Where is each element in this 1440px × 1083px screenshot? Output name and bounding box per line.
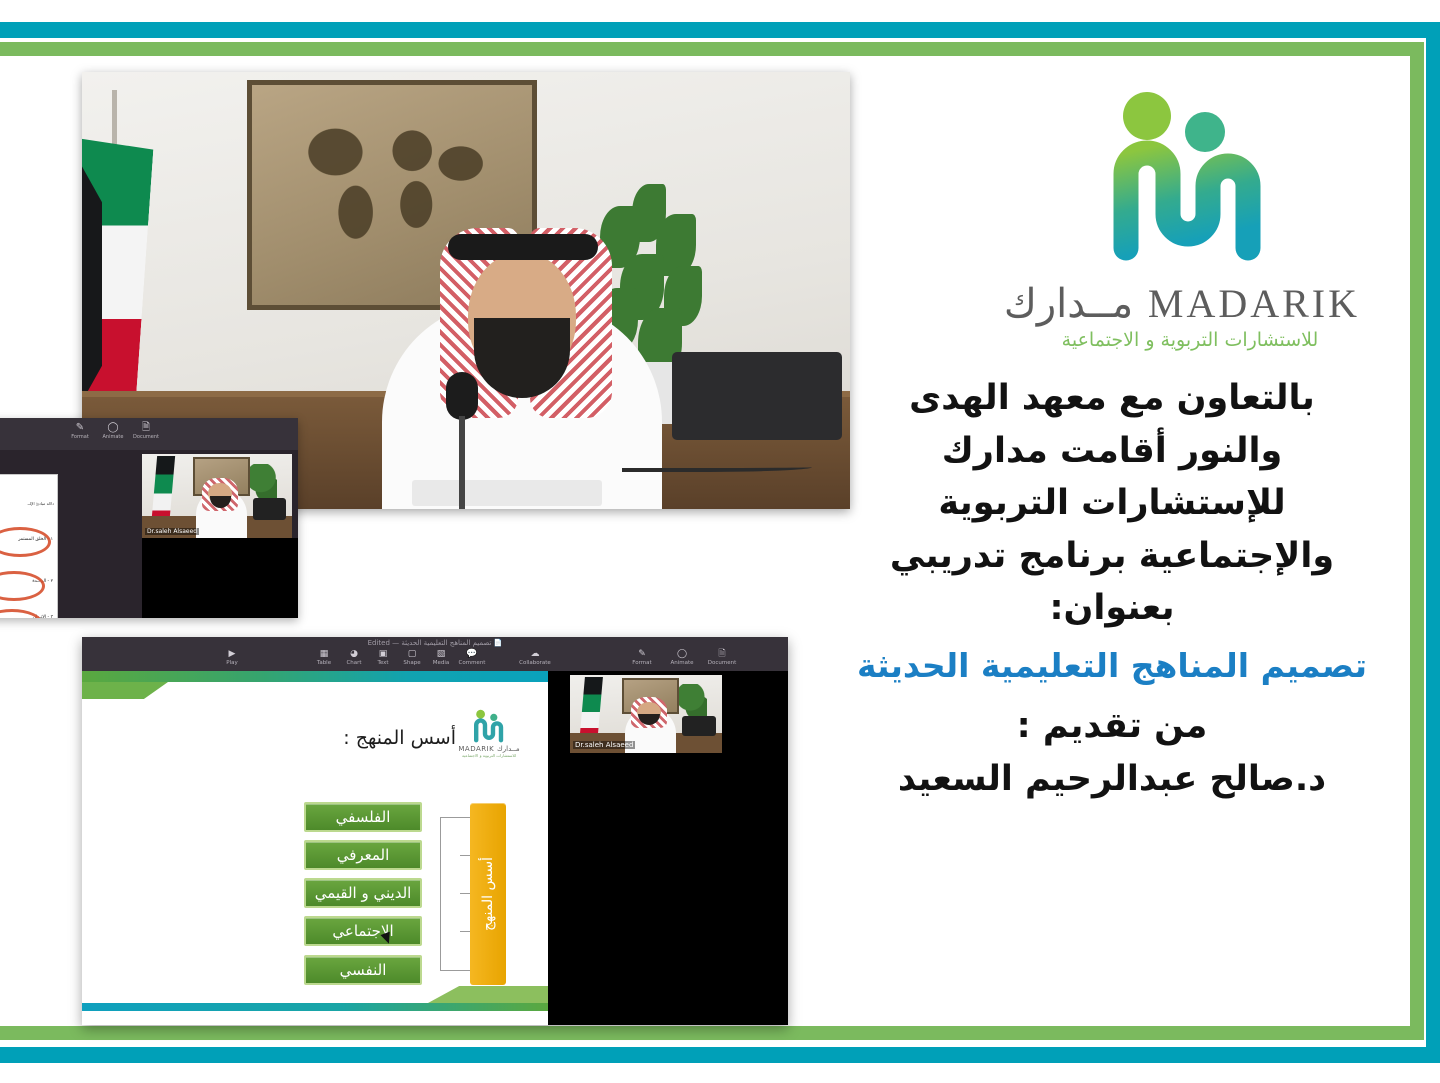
red-annotation-circle [0, 571, 45, 601]
announcement-copy: بالتعاون مع معهد الهدى والنور أقامت مدار… [842, 372, 1382, 805]
office-printer [253, 498, 286, 520]
toolbar-label-collaborate: Collaborate [519, 660, 551, 666]
frame-bar-green-right [1410, 42, 1424, 1040]
toolbar-label-comment: Comment [459, 660, 486, 666]
copy-line-3: للإستشارات التربوية [842, 477, 1382, 530]
copy-line-2: والنور أقامت مدارك [842, 425, 1382, 478]
participant-name-label: Dr.saleh Alsaeed [145, 528, 199, 535]
toolbar-item-document[interactable]: 🗎 Document [128, 422, 164, 440]
copy-line-1: بالتعاون مع معهد الهدى [842, 372, 1382, 425]
speaker-agal [448, 234, 598, 260]
participant-video-tile[interactable]: Dr.saleh Alsaeed [570, 675, 722, 753]
toolbar-label-table: Table [317, 660, 331, 666]
slide-item-box[interactable]: الديني و القيمي [304, 878, 422, 908]
toolbar-label-format: Format [71, 434, 89, 440]
presentation-toolbar[interactable]: 📄 تصميم المناهج التعليمية الحديثة — Edit… [82, 637, 788, 671]
slide-logo-tagline: للاستشارات التربوية و الاجتماعية [450, 753, 528, 758]
document-icon: 🗎 [128, 422, 164, 434]
diagram-connector-stub [460, 817, 470, 818]
slide-logo-name-ar: مــدارك [497, 745, 520, 753]
collaborate-icon: ☁ [515, 649, 555, 660]
brand-wordmark-ar: مــدارك [1004, 281, 1133, 327]
presenter-label: من تقديم : [842, 700, 1382, 753]
comment-icon: 💬 [452, 649, 492, 660]
document-icon: 🗎 [702, 649, 742, 660]
microphone [454, 372, 470, 509]
document-file-icon: 📄 [494, 639, 503, 647]
animate-icon: ◯ [662, 649, 702, 660]
format-icon: ✎ [622, 649, 662, 660]
presentation-window-title: 📄 تصميم المناهج التعليمية الحديثة — Edit… [82, 639, 788, 647]
play-icon: ▶ [212, 649, 252, 660]
slide-madarik-logo: MADARIK مــدارك للاستشارات التربوية و ال… [450, 709, 528, 758]
slide-item-box[interactable]: الاجتماعي [304, 916, 422, 946]
madarik-logo-icon [471, 709, 507, 743]
slide-canvas[interactable]: MADARIK مــدارك للاستشارات التربوية و ال… [82, 671, 548, 1025]
small-window-body: دلالة مبادئ الإلــ ١ - الخلق المستمر ٢ -… [0, 450, 298, 618]
slide-bottom-notch [428, 986, 548, 1003]
frame-bar-teal-top [0, 22, 1440, 38]
slide-item-box[interactable]: الفلسفي [304, 802, 422, 832]
format-icon: ✎ [62, 422, 98, 434]
toolbar-item-collaborate[interactable]: ☁ Collaborate [515, 649, 555, 666]
madarik-logo-icon [1100, 86, 1280, 274]
red-annotation-circle [0, 609, 43, 618]
participant-video-scene [142, 454, 292, 538]
toolbar-item-format[interactable]: ✎ Format [62, 422, 98, 440]
shared-screen-black-area [142, 538, 298, 618]
slide-spine-label-box[interactable]: أسس المنهج [470, 803, 506, 985]
toolbar-label-document: Document [133, 434, 159, 440]
slide-logo-name-en: MADARIK [458, 745, 494, 753]
toolbar-item-format[interactable]: ✎ Format [622, 649, 662, 666]
frame-bar-teal-bottom [0, 1047, 1440, 1063]
secondary-screenshot-window[interactable]: ✎ Format ◯ Animate 🗎 Document دلالة مباد… [0, 418, 298, 618]
toolbar-item-play[interactable]: ▶ Play [212, 649, 252, 666]
slide-title: أسس المنهج : [343, 727, 456, 749]
office-printer [672, 352, 842, 440]
presentation-window-title-text: تصميم المناهج التعليمية الحديثة — Edited [368, 639, 492, 647]
toolbar-item-comment[interactable]: 💬 Comment [452, 649, 492, 666]
kuwait-flag [84, 90, 146, 430]
toolbar-item-animate[interactable]: ◯ Animate [95, 422, 131, 440]
copy-line-5: بعنوان: [842, 582, 1382, 635]
office-printer [682, 716, 715, 736]
slide-logo-name: MADARIK مــدارك [450, 745, 528, 753]
presenter-name: د.صالح عبدالرحيم السعيد [842, 753, 1382, 806]
document-heading: دلالة مبادئ الإلــ [28, 501, 54, 506]
microphone-head [446, 372, 478, 420]
brand-tagline: للاستشارات التربوية و الاجتماعية [1020, 329, 1360, 351]
microphone-stem [459, 416, 465, 509]
frame-bar-green-top [0, 42, 1424, 56]
toolbar-label-media: Media [433, 660, 450, 666]
small-window-toolbar[interactable]: ✎ Format ◯ Animate 🗎 Document [0, 418, 298, 450]
toolbar-item-animate[interactable]: ◯ Animate [662, 649, 702, 666]
toolbar-label-shape: Shape [403, 660, 420, 666]
diagram-connector-stub [460, 931, 470, 932]
toolbar-item-document[interactable]: 🗎 Document [702, 649, 742, 666]
copy-line-4: والإجتماعية برنامج تدريبي [842, 530, 1382, 583]
diagram-connector-stub [460, 893, 470, 894]
diagram-connector-bracket [440, 817, 462, 971]
program-title: تصميم المناهج التعليمية الحديثة [842, 641, 1382, 691]
frame-bar-teal-right [1426, 22, 1440, 1063]
toolbar-label-text: Text [377, 660, 388, 666]
slide-item-box[interactable]: المعرفي [304, 840, 422, 870]
speaker-figure [382, 222, 662, 509]
slide-top-notch [82, 682, 168, 699]
toolbar-label-animate: Animate [670, 660, 693, 666]
diagram-connector-stub [460, 855, 470, 856]
slide-bottom-accent-bar [82, 1003, 548, 1011]
toolbar-label-format: Format [632, 660, 651, 666]
reference-document-page: دلالة مبادئ الإلــ ١ - الخلق المستمر ٢ -… [0, 474, 58, 618]
red-annotation-circle [0, 527, 51, 557]
participant-video-tile[interactable]: Dr.saleh Alsaeed [142, 454, 292, 538]
presentation-screenshot-window[interactable]: 📄 تصميم المناهج التعليمية الحديثة — Edit… [82, 637, 788, 1025]
toolbar-label-animate: Animate [103, 434, 124, 440]
slide-spine-label: أسس المنهج [480, 857, 496, 931]
diagram-connector-stub [460, 970, 470, 971]
madarik-brand-block: MADARIK مــدارك للاستشارات التربوية و ال… [1020, 86, 1360, 351]
participant-name-label: Dr.saleh Alsaeed [573, 741, 635, 749]
slide-item-box[interactable]: النفسي [304, 955, 422, 985]
toolbar-label-play: Play [226, 660, 237, 666]
slide-top-accent-bar [82, 671, 548, 682]
animate-icon: ◯ [95, 422, 131, 434]
brand-wordmark: MADARIK مــدارك [1020, 280, 1360, 327]
frame-bar-green-bottom [0, 1026, 1424, 1040]
toolbar-label-chart: Chart [346, 660, 361, 666]
toolbar-label-document: Document [708, 660, 737, 666]
brand-wordmark-en: MADARIK [1148, 281, 1360, 326]
desk-keyboard [412, 480, 602, 506]
